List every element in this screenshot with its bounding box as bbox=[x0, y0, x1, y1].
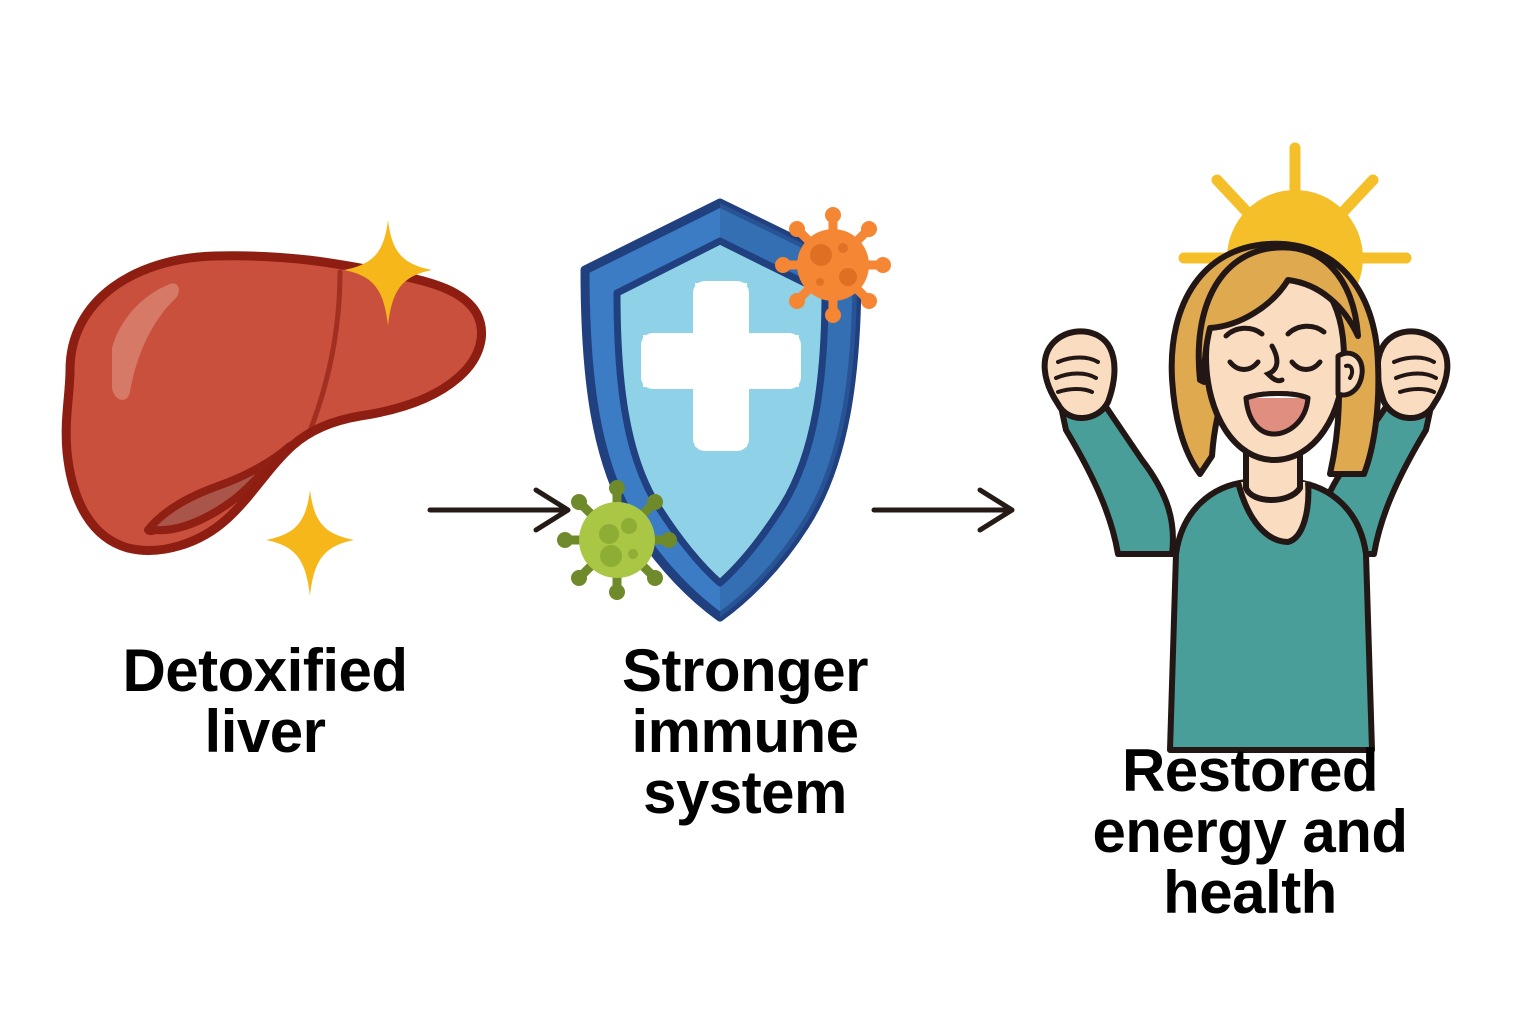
caption-line: energy and bbox=[1000, 801, 1500, 862]
left-arm bbox=[1045, 331, 1173, 554]
liver-illustration bbox=[40, 180, 490, 640]
caption-line: Restored bbox=[1000, 740, 1500, 801]
caption-line: immune bbox=[545, 701, 945, 762]
caption-restored-energy-and-health: Restored energy and health bbox=[1000, 740, 1500, 924]
cheering-woman-illustration bbox=[1000, 130, 1500, 750]
caption-line: liver bbox=[40, 701, 490, 762]
infographic-canvas: Detoxified liver bbox=[0, 0, 1536, 1024]
sparkle-icon bbox=[266, 490, 354, 596]
caption-line: Stronger bbox=[545, 640, 945, 701]
caption-line: Detoxified bbox=[40, 640, 490, 701]
caption-line: system bbox=[545, 762, 945, 823]
liver-icon bbox=[66, 256, 481, 551]
virus-icon-orange bbox=[775, 207, 891, 323]
caption-stronger-immune-system: Stronger immune system bbox=[545, 640, 945, 824]
caption-detoxified-liver: Detoxified liver bbox=[40, 640, 490, 762]
virus-icon-green bbox=[557, 480, 677, 600]
shield-illustration bbox=[545, 195, 945, 640]
torso bbox=[1170, 482, 1372, 750]
caption-line: health bbox=[1000, 862, 1500, 923]
